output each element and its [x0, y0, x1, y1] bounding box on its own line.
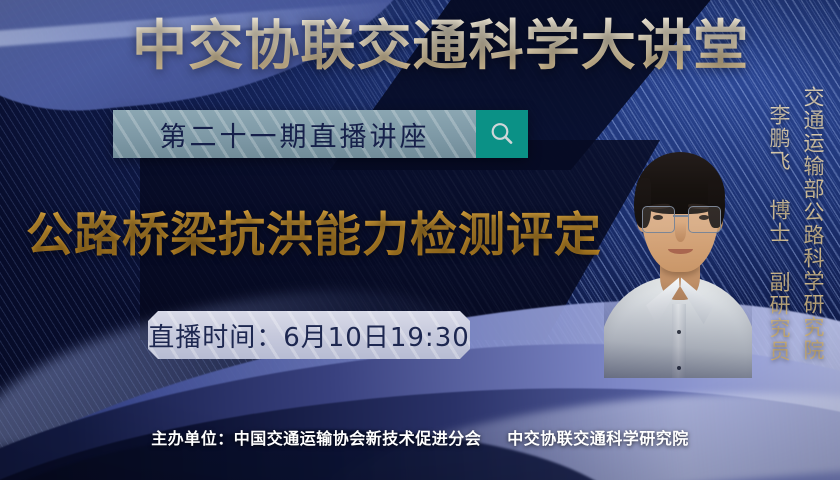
footer-organizers: 主办单位：中国交通运输协会新技术促进分会中交协联交通科学研究院 [0, 425, 840, 449]
footer-org-1: 中国交通运输协会新技术促进分会 [234, 429, 482, 448]
episode-banner: 第二十一期直播讲座 [113, 110, 528, 158]
page-title: 中交协联交通科学大讲堂 [132, 14, 749, 78]
footer-prefix: 主办单位： [151, 429, 234, 448]
search-icon [487, 119, 517, 149]
speaker-organization: 交通运输部公路科学研究院 [798, 86, 828, 362]
broadcast-time-label: 直播时间：6月10日19:30 [148, 317, 470, 354]
live-lecture-poster: 中交协联交通科学大讲堂 第二十一期直播讲座 公路桥梁抗洪能力检测评定 直播时间：… [0, 0, 840, 480]
broadcast-time-badge: 直播时间：6月10日19:30 [148, 311, 470, 359]
speaker-portrait [604, 118, 752, 378]
episode-label-wrap: 第二十一期直播讲座 [113, 110, 476, 158]
portrait-glasses-bridge [673, 215, 688, 217]
portrait-shirt-button [677, 366, 681, 370]
footer-org-2: 中交协联交通科学研究院 [507, 429, 689, 448]
lecture-title: 公路桥梁抗洪能力检测评定 [26, 204, 602, 268]
search-button[interactable] [476, 110, 528, 158]
portrait-shirt-button [677, 330, 681, 334]
portrait-lens-right [688, 206, 721, 233]
episode-label: 第二十一期直播讲座 [160, 115, 430, 154]
portrait-nose [675, 222, 686, 242]
portrait-lens-left [642, 206, 675, 233]
speaker-name-title: 李鹏飞 博士 副研究员 [764, 104, 794, 363]
